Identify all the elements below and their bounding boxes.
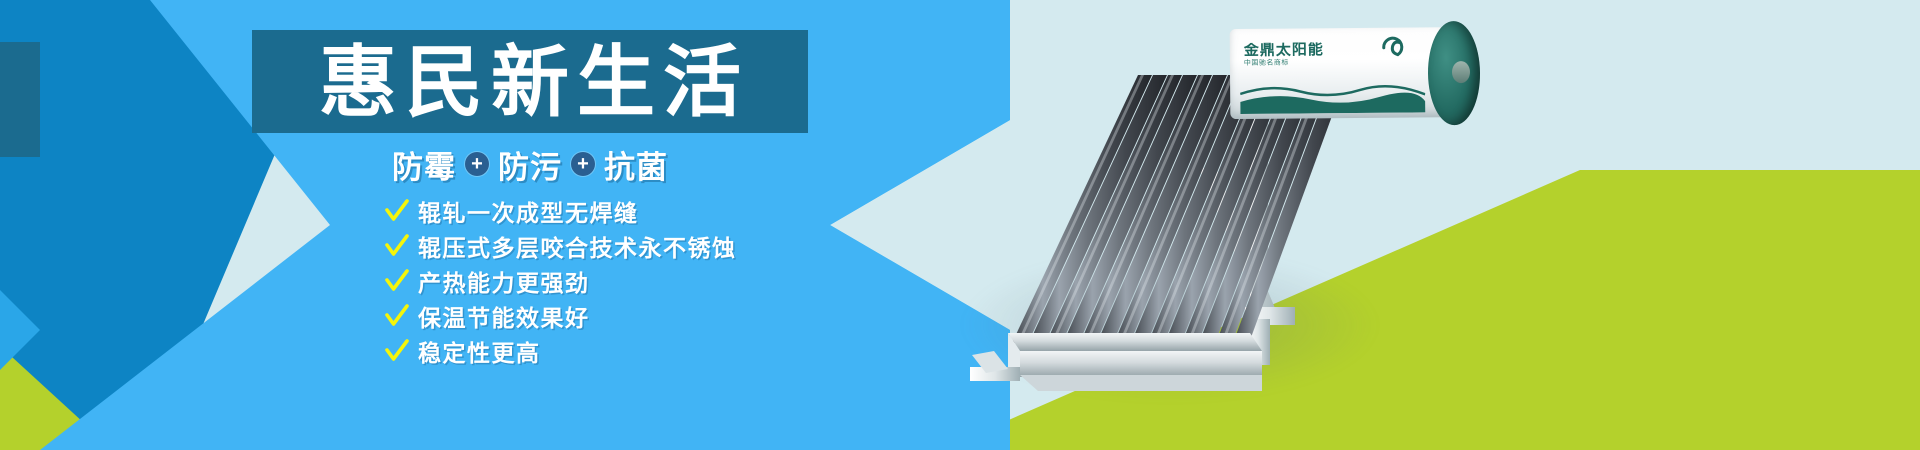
feature-label: 辊轧一次成型无焊缝: [418, 194, 639, 228]
title-banner-box: 惠民新生活: [252, 30, 808, 133]
tank-body: 金鼎太阳能 中国驰名商标: [1230, 27, 1446, 119]
list-item: 辊轧一次成型无焊缝: [384, 194, 737, 227]
product-image-solar-water-heater: 金鼎太阳能 中国驰名商标: [940, 0, 1500, 450]
teal-accent-square: [0, 42, 40, 157]
check-icon: [384, 338, 410, 364]
subtitle-word-2: 防污: [498, 142, 562, 187]
brand-logo-icon: [1380, 34, 1406, 60]
list-item: 辊压式多层咬合技术永不锈蚀: [384, 229, 737, 262]
plus-icon-1: +: [465, 152, 489, 176]
subtitle-word-1: 防霉: [392, 142, 456, 187]
list-item: 产热能力更强劲: [384, 264, 737, 297]
feature-label: 保温节能效果好: [418, 299, 590, 333]
feature-label: 辊压式多层咬合技术永不锈蚀: [418, 229, 737, 263]
feature-list: 辊轧一次成型无焊缝 辊压式多层咬合技术永不锈蚀 产热能力更强劲: [384, 194, 737, 367]
check-icon: [384, 303, 410, 329]
tank-wave-graphic: [1240, 82, 1425, 114]
check-icon: [384, 198, 410, 224]
check-icon: [384, 268, 410, 294]
promo-banner: 惠民新生活 防霉 + 防污 + 抗菌 辊轧一次成型无焊缝 辊压式多层咬合技术永不…: [0, 0, 1920, 450]
subtitle-word-3: 抗菌: [604, 142, 668, 187]
page-title: 惠民新生活: [311, 43, 749, 121]
list-item: 稳定性更高: [384, 334, 737, 367]
corner-fill-top-right: [1850, 0, 1920, 55]
subtitle-row: 防霉 + 防污 + 抗菌: [252, 142, 808, 186]
bottom-rail: [970, 333, 1262, 391]
storage-tank: 金鼎太阳能 中国驰名商标: [1230, 17, 1481, 129]
plus-icon-2: +: [571, 152, 595, 176]
feature-label: 稳定性更高: [418, 334, 541, 368]
feature-label: 产热能力更强劲: [418, 264, 590, 298]
tank-cap-knob: [1452, 61, 1470, 83]
check-icon: [384, 233, 410, 259]
list-item: 保温节能效果好: [384, 299, 737, 332]
